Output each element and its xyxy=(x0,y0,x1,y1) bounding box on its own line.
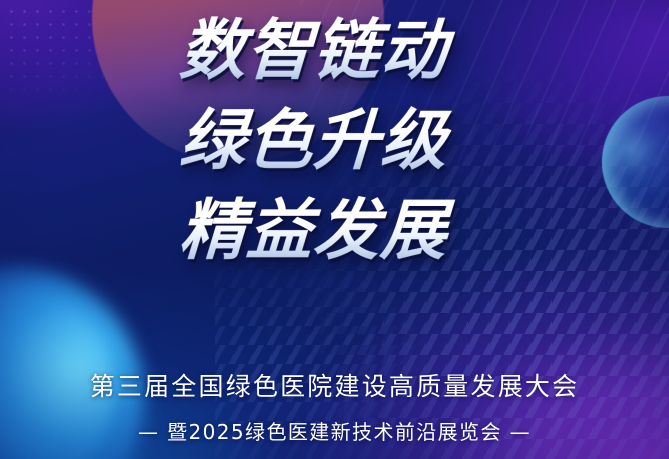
exhibition-subtitle: — 暨2025绿色医建新技术前沿展览会 — xyxy=(0,418,669,446)
footer-block: 第三届全国绿色医院建设高质量发展大会 — 暨2025绿色医建新技术前沿展览会 — xyxy=(0,370,669,446)
headline-line-2: 绿色升级 xyxy=(0,94,629,188)
conference-title: 第三届全国绿色医院建设高质量发展大会 xyxy=(0,370,669,404)
headline-block: 数智链动 绿色升级 精益发展 xyxy=(0,4,669,278)
headline-line-1: 数智链动 xyxy=(0,4,629,98)
conference-poster: 数智链动 绿色升级 精益发展 第三届全国绿色医院建设高质量发展大会 — 暨202… xyxy=(0,0,669,459)
headline-line-3: 精益发展 xyxy=(0,184,629,278)
